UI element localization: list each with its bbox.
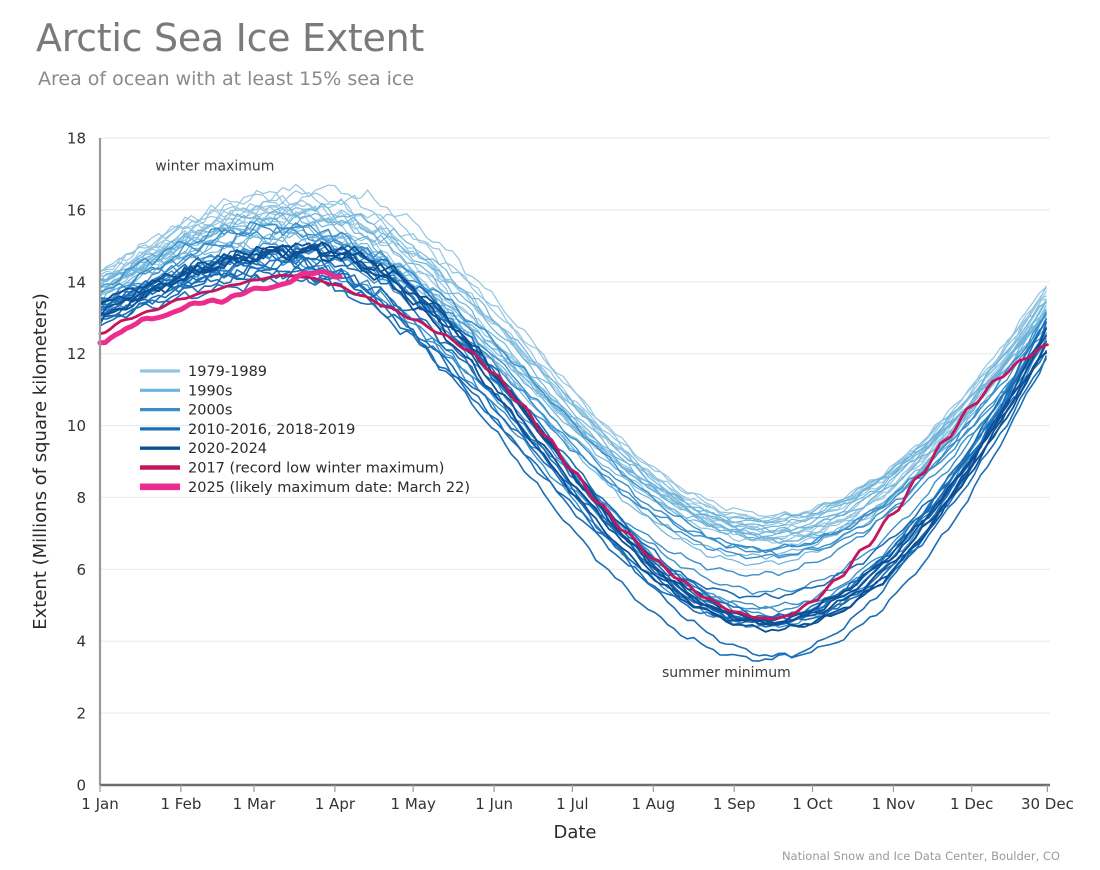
x-tick-label: 1 Jun [475, 795, 513, 813]
x-tick-label: 1 May [391, 795, 436, 813]
y-tick-label: 2 [76, 705, 86, 723]
x-tick-label: 30 Dec [1021, 795, 1074, 813]
y-tick-label: 8 [76, 489, 86, 507]
annotation-summer-minimum: summer minimum [662, 665, 791, 681]
y-tick-label: 18 [67, 130, 86, 148]
y-axis-title: Extent (Millions of square kilometers) [30, 293, 51, 630]
legend-label: 2017 (record low winter maximum) [188, 461, 444, 477]
legend-label: 2025 (likely maximum date: March 22) [188, 480, 470, 496]
series-line-2003 [100, 240, 1046, 556]
chart-legend[interactable]: 1979-19891990s2000s2010-2016, 2018-20192… [140, 364, 470, 496]
legend-item-2000s[interactable]: 2000s [140, 403, 232, 419]
x-tick-label: 1 Aug [631, 795, 675, 813]
legend-item-1990s[interactable]: 1990s [140, 383, 232, 399]
y-tick-label: 6 [76, 561, 86, 579]
legend-item-2017[interactable]: 2017 (record low winter maximum) [140, 461, 444, 477]
legend-item-1980s[interactable]: 1979-1989 [140, 364, 267, 380]
x-tick-label: 1 Sep [713, 795, 756, 813]
y-tick-label: 12 [67, 345, 86, 363]
legend-item-2010s[interactable]: 2010-2016, 2018-2019 [140, 422, 355, 438]
y-tick-label: 0 [76, 777, 86, 795]
legend-item-2025[interactable]: 2025 (likely maximum date: March 22) [140, 480, 470, 496]
series-line-2001 [100, 243, 1046, 553]
x-tick-label: 1 Oct [792, 795, 832, 813]
legend-label: 1979-1989 [188, 364, 267, 380]
x-tick-label: 1 Mar [233, 795, 276, 813]
x-axis-title: Date [553, 822, 596, 843]
legend-label: 2020-2024 [188, 441, 267, 457]
attribution-text: National Snow and Ice Data Center, Bould… [782, 849, 1060, 863]
legend-label: 2000s [188, 403, 232, 419]
series-line-1994 [100, 230, 1046, 543]
x-tick-label: 1 Nov [872, 795, 916, 813]
y-tick-label: 16 [67, 201, 86, 219]
axis-titles: DateExtent (Millions of square kilometer… [30, 293, 597, 843]
y-tick-label: 14 [67, 273, 86, 291]
legend-label: 1990s [188, 383, 232, 399]
annotation-winter-maximum: winter maximum [155, 158, 274, 174]
x-tick-label: 1 Dec [950, 795, 993, 813]
chart-container: Arctic Sea Ice Extent Area of ocean with… [0, 0, 1100, 870]
legend-label: 2010-2016, 2018-2019 [188, 422, 355, 438]
x-tick-label: 1 Jul [556, 795, 588, 813]
sea-ice-line-chart: 0246810121416181 Jan1 Feb1 Mar1 Apr1 May… [0, 0, 1100, 870]
y-tick-label: 4 [76, 633, 86, 651]
x-tick-label: 1 Jan [81, 795, 118, 813]
legend-item-2020s[interactable]: 2020-2024 [140, 441, 267, 457]
x-tick-label: 1 Apr [315, 795, 356, 813]
x-tick-label: 1 Feb [160, 795, 201, 813]
y-tick-label: 10 [67, 417, 86, 435]
